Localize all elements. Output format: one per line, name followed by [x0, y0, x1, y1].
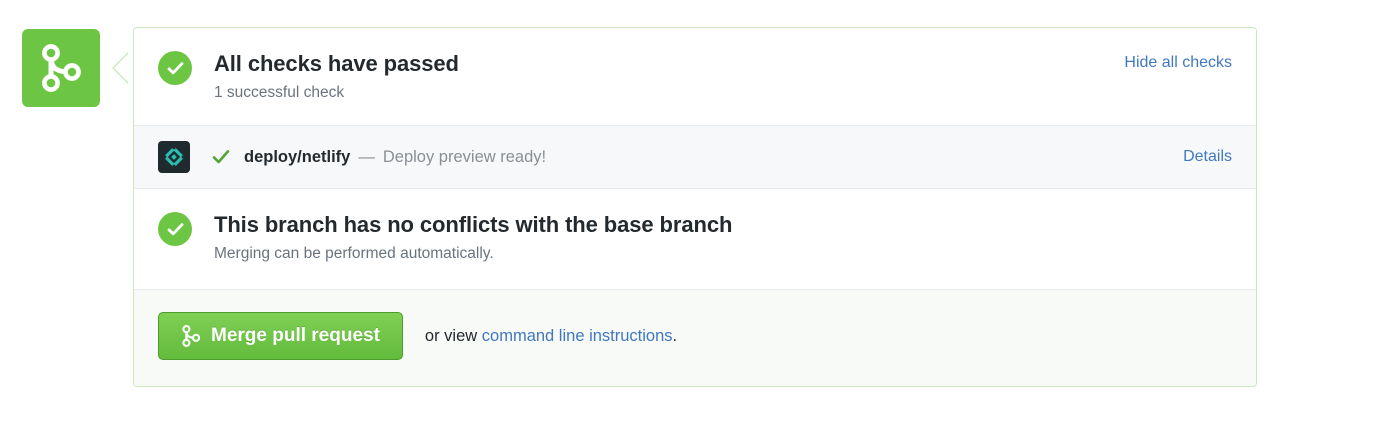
- merge-action-section: Merge pull request or view command line …: [134, 290, 1256, 386]
- checks-subline: 1 successful check: [214, 82, 1232, 104]
- check-description: Deploy preview ready!: [383, 148, 546, 167]
- pull-request-merge-box: All checks have passed 1 successful chec…: [0, 0, 1388, 448]
- git-merge-icon: [181, 325, 201, 347]
- check-circle-icon: [158, 51, 192, 85]
- check-name[interactable]: deploy/netlify: [244, 148, 350, 167]
- merge-aside-prefix: or view: [425, 327, 482, 345]
- checks-summary-header: All checks have passed 1 successful chec…: [134, 28, 1256, 125]
- check-row: deploy/netlify — Deploy preview ready! D…: [134, 125, 1256, 189]
- conflicts-section: This branch has no conflicts with the ba…: [134, 189, 1256, 290]
- merge-status-badge: [22, 29, 100, 107]
- check-circle-icon: [158, 212, 192, 246]
- checks-headline: All checks have passed: [214, 50, 1232, 77]
- check-separator-dash: —: [358, 148, 375, 167]
- netlify-logo-icon: [158, 141, 190, 173]
- merge-aside-text: or view command line instructions.: [425, 327, 677, 346]
- hide-all-checks-link[interactable]: Hide all checks: [1124, 54, 1232, 72]
- merge-aside-suffix: .: [673, 327, 678, 345]
- merge-button-label: Merge pull request: [211, 325, 380, 347]
- check-mark-icon: [212, 148, 230, 166]
- check-details-link[interactable]: Details: [1183, 148, 1232, 166]
- conflicts-subline: Merging can be performed automatically.: [214, 243, 732, 265]
- conflicts-headline: This branch has no conflicts with the ba…: [214, 211, 732, 238]
- merge-card: All checks have passed 1 successful chec…: [133, 27, 1257, 387]
- merge-pull-request-button[interactable]: Merge pull request: [158, 312, 403, 360]
- command-line-instructions-link[interactable]: command line instructions: [482, 327, 673, 345]
- git-merge-icon: [40, 44, 82, 92]
